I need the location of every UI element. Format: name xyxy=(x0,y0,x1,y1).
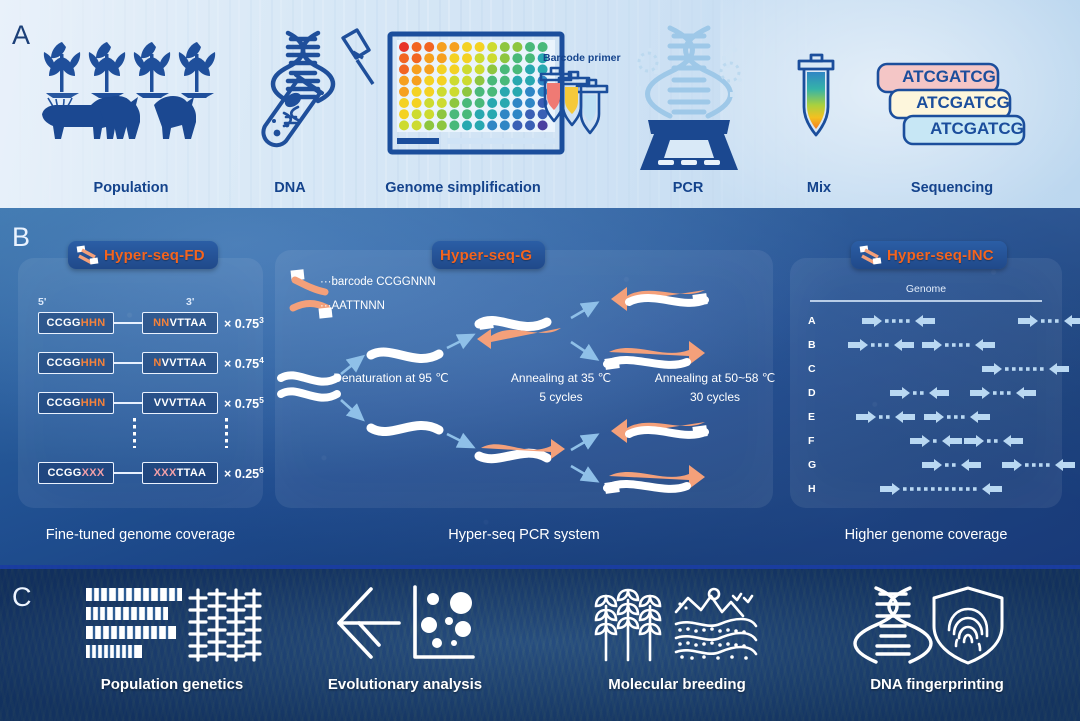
inc-dot xyxy=(1012,367,1016,371)
inc-reverse-arrow xyxy=(929,387,949,399)
flow-arrow xyxy=(571,436,595,450)
plate-well xyxy=(487,42,497,52)
plate-well xyxy=(512,42,522,52)
plate-well xyxy=(525,42,535,52)
flow-arrow xyxy=(341,400,361,418)
plate-well xyxy=(525,98,535,108)
plate-well xyxy=(512,120,522,130)
inc-reverse-arrow xyxy=(894,339,914,351)
plate-well xyxy=(475,120,485,130)
badge-hyper-seq-inc: Hyper-seq-INC xyxy=(851,241,1007,269)
inc-row xyxy=(822,313,1058,329)
inc-dot xyxy=(973,487,977,491)
fd-connector-line xyxy=(114,402,142,404)
inc-dot xyxy=(917,487,921,491)
panel-a-step-label-sequencing: Sequencing xyxy=(887,180,1017,196)
plate-well xyxy=(487,64,497,74)
plate-well xyxy=(487,76,497,86)
plate-well xyxy=(500,76,510,86)
plate-well xyxy=(437,64,447,74)
plate-well xyxy=(462,76,472,86)
panel-a: A xyxy=(0,0,1080,208)
inc-reverse-arrow xyxy=(970,411,990,423)
inc-dot xyxy=(1000,391,1004,395)
plate-well xyxy=(462,53,472,63)
flow-arrow xyxy=(571,304,595,318)
panel-c-label-population-genetics: Population genetics xyxy=(82,676,262,693)
fd-connector-line xyxy=(114,472,142,474)
inc-forward-arrow xyxy=(964,435,984,447)
inc-dot xyxy=(1039,463,1043,467)
panel-a-step-label-population: Population xyxy=(61,180,201,196)
plate-well xyxy=(475,109,485,119)
plate-well xyxy=(487,87,497,97)
inc-dot xyxy=(871,343,875,347)
plate-well xyxy=(512,76,522,86)
plate-well xyxy=(525,87,535,97)
panel-b-caption-g: Hyper-seq PCR system xyxy=(275,527,773,543)
inc-dot xyxy=(910,487,914,491)
plate-well xyxy=(399,120,409,130)
haplotype-bars-and-phylo-icon xyxy=(86,588,258,662)
flow-arrow xyxy=(571,342,595,358)
inc-dot xyxy=(952,343,956,347)
plate-well xyxy=(437,87,447,97)
inc-dot xyxy=(1048,319,1052,323)
inc-row-label: B xyxy=(808,339,816,351)
inc-row xyxy=(822,481,1058,497)
inc-dot xyxy=(961,415,965,419)
inc-dot xyxy=(931,487,935,491)
fd-ellipsis-right xyxy=(225,418,228,448)
plate-well xyxy=(424,87,434,97)
inc-row xyxy=(822,409,1058,425)
plate-well xyxy=(462,87,472,97)
inc-forward-arrow xyxy=(922,459,942,471)
plate-well xyxy=(487,98,497,108)
sequencing-read-3: ATCGATCG xyxy=(922,119,1032,139)
fd-left-seq-box: CCGGXXX xyxy=(38,462,114,484)
inc-forward-arrow xyxy=(856,411,876,423)
plate-well xyxy=(449,120,459,130)
inc-forward-arrow xyxy=(970,387,990,399)
plate-well xyxy=(475,76,485,86)
panel-a-step-label-genome-simplification: Genome simplification xyxy=(363,180,563,196)
panel-a-step-label-pcr: PCR xyxy=(648,180,728,196)
mix-tube-icon xyxy=(795,55,849,147)
plate-well xyxy=(500,53,510,63)
panel-c-letter: C xyxy=(12,582,32,613)
plate-well xyxy=(399,53,409,63)
plate-well xyxy=(412,87,422,97)
plate-well xyxy=(424,53,434,63)
inc-dot xyxy=(1040,367,1044,371)
inc-dot xyxy=(945,463,949,467)
plate-well xyxy=(525,120,535,130)
g-legend-barcode: ···barcode CCGGNNN xyxy=(320,276,436,288)
g-step-annealing-50-58-cycles: 30 cycles xyxy=(620,390,810,404)
g-legend-aattnnn: ···AATTNNN xyxy=(320,300,385,312)
fd-right-seq-box: VVVTTAA xyxy=(142,392,218,414)
plate-well xyxy=(525,64,535,74)
wheat-and-field-icon xyxy=(594,586,758,662)
plate-well xyxy=(500,87,510,97)
barcode-tag xyxy=(478,317,493,330)
arrow-and-scatter-plot-icon xyxy=(337,585,477,663)
plants-and-cattle-icon xyxy=(38,30,233,150)
plate-well xyxy=(500,98,510,108)
inc-forward-arrow xyxy=(1018,315,1038,327)
flow-arrow xyxy=(571,466,595,480)
fd-left-seq-box: CCGGHHN xyxy=(38,312,114,334)
barcode-tag xyxy=(604,357,619,370)
fd-multiplier: × 0.755 xyxy=(224,395,264,411)
genomic-strand xyxy=(281,391,337,397)
plate-well xyxy=(500,42,510,52)
inc-dot xyxy=(959,343,963,347)
denatured-strand xyxy=(371,352,439,359)
plate-well xyxy=(538,42,548,52)
plate-well xyxy=(512,98,522,108)
panel-b-caption-inc: Higher genome coverage xyxy=(790,527,1062,543)
plate-well xyxy=(512,87,522,97)
barcode-primer-tubes-icon xyxy=(537,66,637,144)
inc-genome-label: Genome xyxy=(790,283,1062,295)
panel-a-step-label-mix: Mix xyxy=(779,180,859,196)
barcode-tag xyxy=(604,481,619,494)
plate-well xyxy=(475,53,485,63)
inc-row-label: F xyxy=(808,435,814,447)
inc-dot xyxy=(945,487,949,491)
plate-well xyxy=(424,76,434,86)
plate-well xyxy=(412,120,422,130)
plate-well xyxy=(449,87,459,97)
plate-well xyxy=(449,42,459,52)
inc-reverse-arrow xyxy=(1016,387,1036,399)
fd-multiplier: × 0.256 xyxy=(224,465,264,481)
inc-dot xyxy=(879,415,883,419)
inc-forward-arrow xyxy=(924,411,944,423)
panel-b-letter: B xyxy=(12,222,31,253)
three-prime-tick: 3' xyxy=(186,296,194,308)
plate-well xyxy=(437,53,447,63)
inc-dot xyxy=(938,487,942,491)
fd-connector-line xyxy=(114,362,142,364)
barcode-primer-label: Barcode primer xyxy=(543,52,621,64)
plate-well xyxy=(437,76,447,86)
inc-dot xyxy=(952,487,956,491)
fd-right-seq-box: XXXTTAA xyxy=(142,462,218,484)
plate-well xyxy=(462,98,472,108)
dna-helix-and-tube-icon xyxy=(260,25,335,165)
inc-row xyxy=(822,433,1058,449)
plate-well xyxy=(500,64,510,74)
inc-reverse-arrow xyxy=(915,315,935,327)
plate-well xyxy=(424,42,434,52)
inc-dot xyxy=(885,343,889,347)
fd-multiplier: × 0.753 xyxy=(224,315,264,331)
inc-dot xyxy=(1041,319,1045,323)
plate-well xyxy=(462,109,472,119)
plate-well xyxy=(412,42,422,52)
plate-well xyxy=(424,109,434,119)
primer-arrow-left xyxy=(477,328,561,349)
inc-row-label: A xyxy=(808,315,816,327)
inc-dot xyxy=(1032,463,1036,467)
inc-row-label: E xyxy=(808,411,815,423)
plate-well xyxy=(437,109,447,119)
plate-well xyxy=(449,98,459,108)
dna-and-fingerprint-shield-icon xyxy=(868,586,1008,664)
inc-forward-arrow xyxy=(880,483,900,495)
fd-right-seq-box: NVVTTAA xyxy=(142,352,218,374)
barcode-tag xyxy=(692,425,707,438)
inc-dot xyxy=(892,319,896,323)
plate-well xyxy=(437,42,447,52)
inc-dot xyxy=(1025,463,1029,467)
panel-b-caption-fd: Fine-tuned genome coverage xyxy=(18,527,263,543)
badge-hyper-seq-inc-label: Hyper-seq-INC xyxy=(887,247,994,264)
plate-well xyxy=(475,42,485,52)
inc-forward-arrow xyxy=(982,363,1002,375)
inc-forward-arrow xyxy=(910,435,930,447)
inc-reverse-arrow xyxy=(961,459,981,471)
plate-well xyxy=(424,64,434,74)
badge-hyper-seq-fd-label: Hyper-seq-FD xyxy=(104,247,205,264)
flow-arrow xyxy=(447,434,471,446)
inc-dot xyxy=(878,343,882,347)
inc-dot xyxy=(994,439,998,443)
plate-well xyxy=(424,120,434,130)
dna-fragment-icon xyxy=(76,244,100,266)
inc-dot xyxy=(959,487,963,491)
badge-hyper-seq-fd: Hyper-seq-FD xyxy=(68,241,218,269)
panel-c-label-dna-fingerprinting: DNA fingerprinting xyxy=(848,676,1026,693)
inc-forward-arrow xyxy=(1002,459,1022,471)
inc-dot xyxy=(966,343,970,347)
plate-well xyxy=(500,120,510,130)
plate-well xyxy=(399,64,409,74)
plate-well xyxy=(424,98,434,108)
inc-dot xyxy=(1033,367,1037,371)
inc-dot xyxy=(920,391,924,395)
panel-c-top-accent-line xyxy=(0,565,1080,569)
plate-well xyxy=(449,109,459,119)
inc-dot xyxy=(1026,367,1030,371)
well-plate-icon xyxy=(335,26,565,166)
inc-dot xyxy=(913,391,917,395)
inc-dot xyxy=(885,319,889,323)
plate-well xyxy=(487,53,497,63)
denatured-strand xyxy=(371,425,439,431)
panel-c-label-evolutionary-analysis: Evolutionary analysis xyxy=(310,676,500,693)
plate-well xyxy=(487,120,497,130)
inc-reverse-arrow xyxy=(975,339,995,351)
inc-dot xyxy=(987,439,991,443)
panel-c-label-molecular-breeding: Molecular breeding xyxy=(585,676,769,693)
inc-row-label: H xyxy=(808,483,816,495)
inc-dot xyxy=(924,487,928,491)
inc-row-label: G xyxy=(808,459,816,471)
inc-dot xyxy=(1005,367,1009,371)
plate-well xyxy=(525,76,535,86)
inc-genome-axis-line xyxy=(810,300,1042,302)
inc-row xyxy=(822,457,1058,473)
inc-dot xyxy=(903,487,907,491)
barcode-tag xyxy=(692,293,707,306)
fd-connector-line xyxy=(114,322,142,324)
plate-well xyxy=(449,53,459,63)
plate-well xyxy=(437,98,447,108)
thermocycler-icon xyxy=(630,20,748,175)
inc-dot xyxy=(1046,463,1050,467)
plate-well xyxy=(412,53,422,63)
inc-dot xyxy=(947,415,951,419)
plate-well xyxy=(399,76,409,86)
inc-dot xyxy=(954,415,958,419)
plate-well xyxy=(475,64,485,74)
plate-well xyxy=(487,109,497,119)
plate-well xyxy=(412,109,422,119)
inc-reverse-arrow xyxy=(982,483,1002,495)
inc-forward-arrow xyxy=(862,315,882,327)
inc-forward-arrow xyxy=(922,339,942,351)
inc-dot xyxy=(886,415,890,419)
inc-dot xyxy=(952,463,956,467)
plate-well xyxy=(512,53,522,63)
plate-well xyxy=(462,120,472,130)
inc-dot xyxy=(1055,319,1059,323)
inc-dot xyxy=(1007,391,1011,395)
five-prime-tick: 5' xyxy=(38,296,46,308)
plate-well xyxy=(399,109,409,119)
sequencing-read-1: ATCGATCG xyxy=(894,67,1004,87)
plate-well xyxy=(525,53,535,63)
plate-well xyxy=(412,76,422,86)
fd-ellipsis-left xyxy=(133,418,136,448)
fd-left-seq-box: CCGGHHN xyxy=(38,352,114,374)
g-step-denaturation: Denaturation at 95 ℃ xyxy=(296,371,486,385)
flow-arrow xyxy=(447,336,471,348)
plate-well xyxy=(512,109,522,119)
fd-left-seq-box: CCGGHHN xyxy=(38,392,114,414)
inc-dot xyxy=(993,391,997,395)
inc-row-label: C xyxy=(808,363,816,375)
inc-reverse-arrow xyxy=(942,435,962,447)
plate-well xyxy=(399,42,409,52)
plate-well xyxy=(462,42,472,52)
plate-well xyxy=(449,76,459,86)
inc-reverse-arrow xyxy=(895,411,915,423)
inc-reverse-arrow xyxy=(1003,435,1023,447)
inc-dot xyxy=(945,343,949,347)
template-strand xyxy=(479,453,547,459)
panel-a-step-label-dna: DNA xyxy=(240,180,340,196)
inc-forward-arrow xyxy=(848,339,868,351)
plate-well xyxy=(512,64,522,74)
g-step-annealing-50-58: Annealing at 50~58 ℃ xyxy=(620,371,810,385)
plate-well xyxy=(412,64,422,74)
plate-well xyxy=(437,120,447,130)
inc-row xyxy=(822,361,1058,377)
inc-dot xyxy=(966,487,970,491)
figure-root: A xyxy=(0,0,1080,721)
plate-well xyxy=(475,98,485,108)
inc-dot xyxy=(899,319,903,323)
fd-multiplier: × 0.754 xyxy=(224,355,264,371)
dna-fragment-icon xyxy=(859,244,883,266)
inc-row-label: D xyxy=(808,387,816,399)
inc-dot xyxy=(906,319,910,323)
plate-well xyxy=(475,87,485,97)
plate-well xyxy=(500,109,510,119)
inc-forward-arrow xyxy=(890,387,910,399)
plate-well xyxy=(525,109,535,119)
plate-well xyxy=(399,87,409,97)
panel-a-letter: A xyxy=(12,20,31,51)
fd-right-seq-box: NNVTTAA xyxy=(142,312,218,334)
plate-well xyxy=(399,98,409,108)
inc-dot xyxy=(933,439,937,443)
inc-dot xyxy=(1019,367,1023,371)
plate-well xyxy=(462,64,472,74)
plate-well xyxy=(412,98,422,108)
plate-well xyxy=(449,64,459,74)
inc-row xyxy=(822,337,1058,353)
inc-row xyxy=(822,385,1058,401)
sequencing-read-2: ATCGATCG xyxy=(908,93,1018,113)
